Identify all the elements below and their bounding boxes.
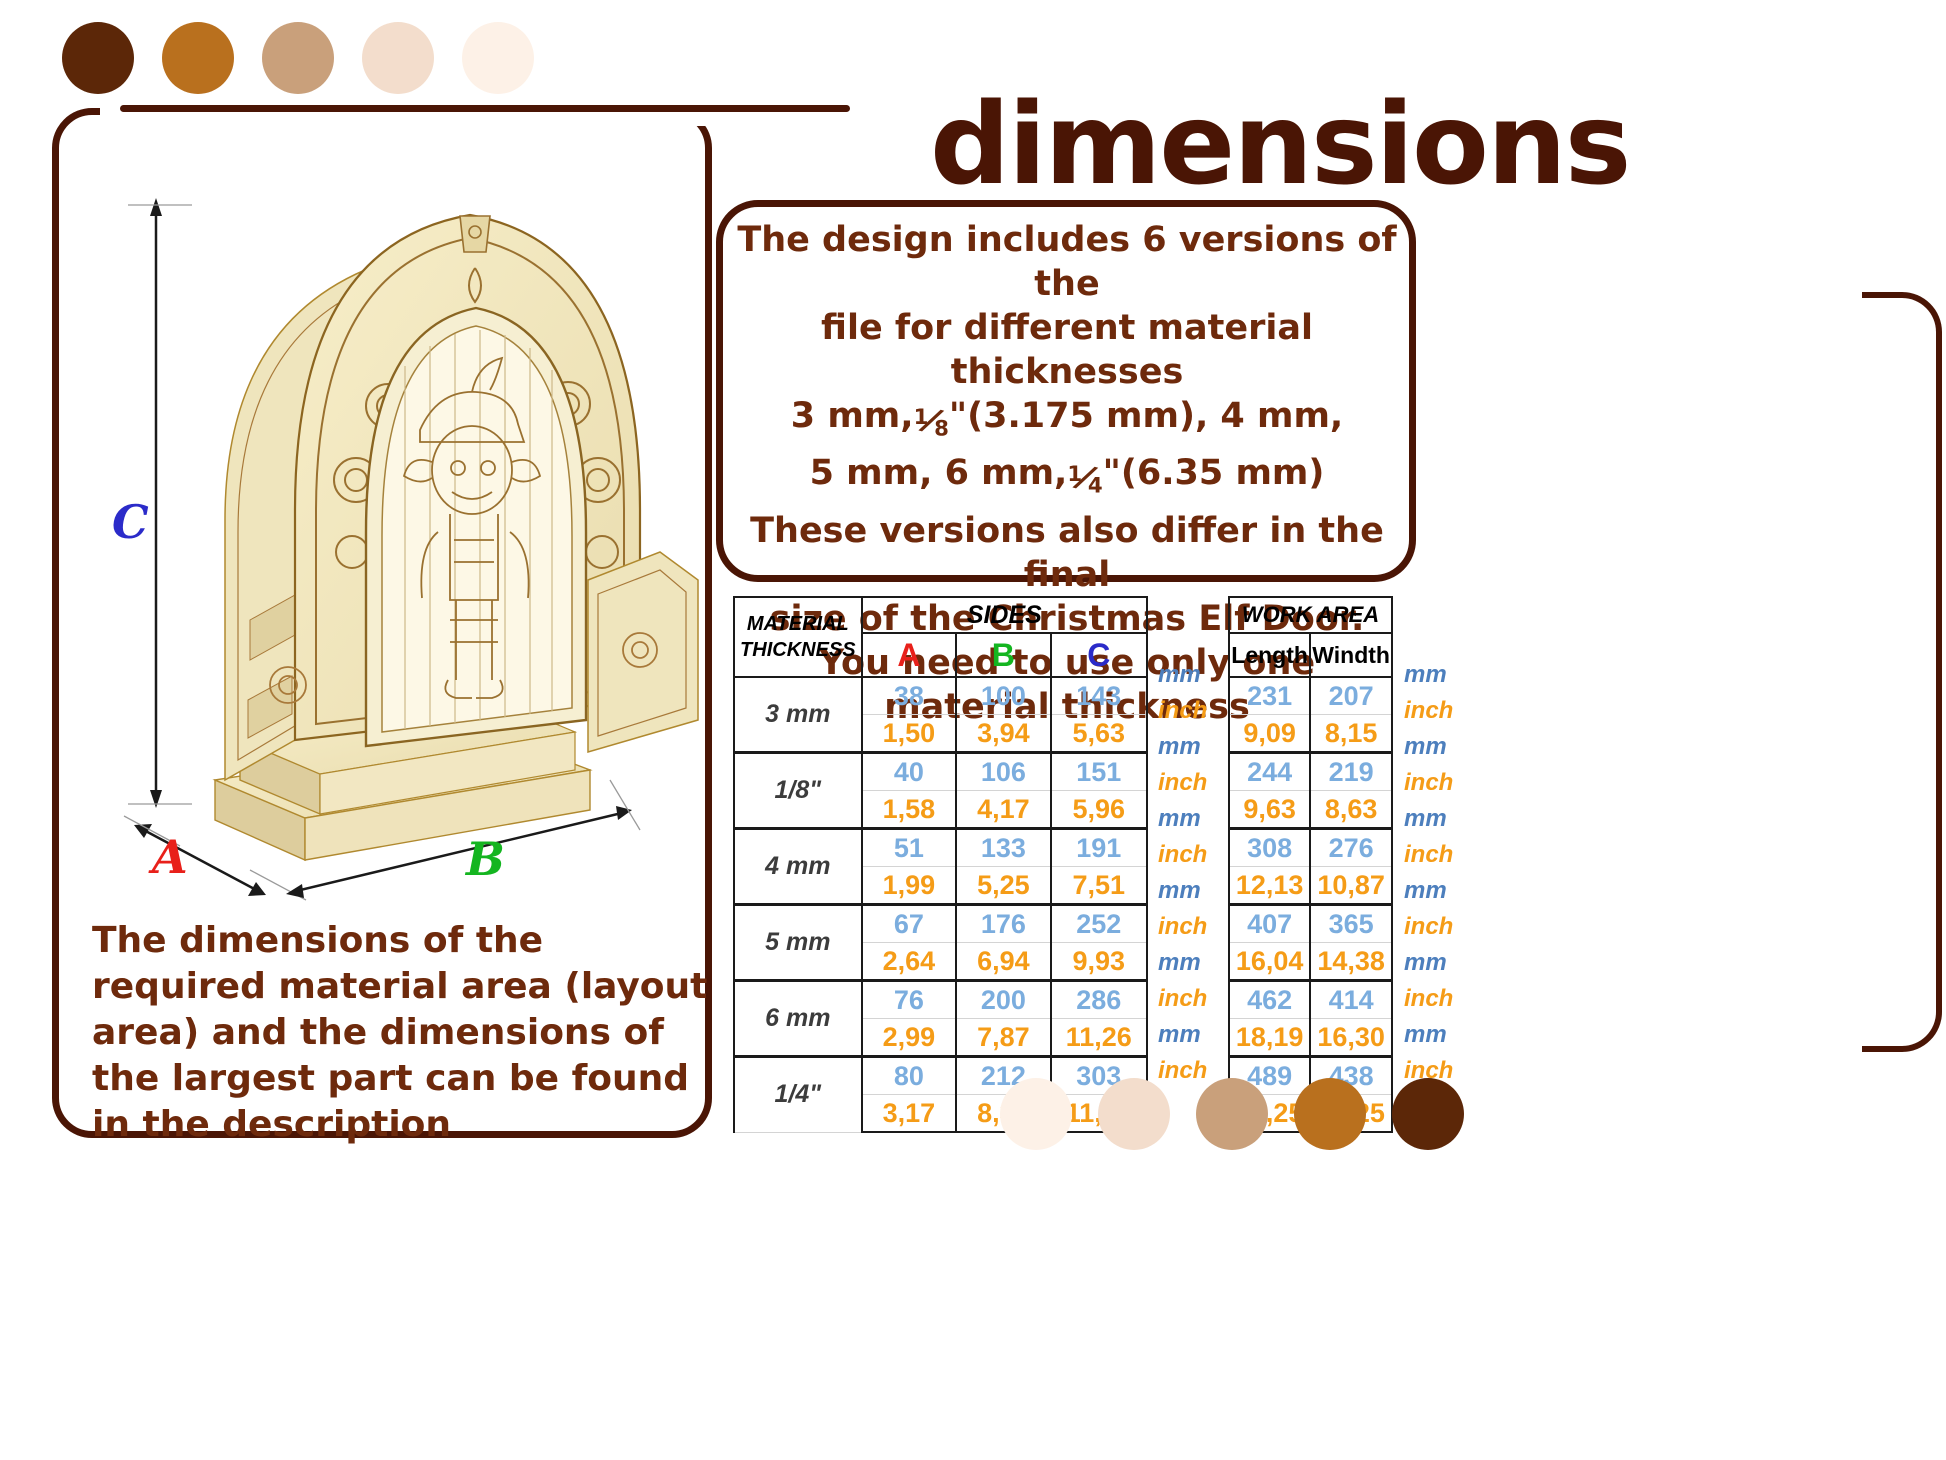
- info-line-4: 5 mm, 6 mm,1⁄4"(6.35 mm): [726, 451, 1408, 508]
- work-subheader-row: LengthWindth: [1229, 633, 1392, 677]
- cell-inch-length: 9,63: [1229, 791, 1310, 829]
- unit-label-mm: mm: [1404, 877, 1447, 905]
- table-row: 3 mm38100143: [734, 677, 1147, 715]
- unit-label-mm: mm: [1158, 1021, 1201, 1049]
- cell-mm-length: 407: [1229, 905, 1310, 943]
- cell-inch-windth: 8,63: [1310, 791, 1392, 829]
- column-header-a: A: [862, 633, 956, 677]
- table-row: 12,1310,87: [1229, 867, 1392, 905]
- cell-mm-a: 40: [862, 753, 956, 791]
- thickness-cell: 5 mm: [734, 905, 862, 981]
- color-swatch-4: [1392, 1078, 1464, 1150]
- table-row: 18,1916,30: [1229, 1019, 1392, 1057]
- unit-label-mm: mm: [1404, 1021, 1447, 1049]
- table-header-row: MATERIALTHICKNESSSIDES: [734, 597, 1147, 633]
- info-line-3-suffix: "(3.175 mm), 4 mm,: [949, 396, 1343, 436]
- watermark-frame: [1862, 292, 1942, 1052]
- table-row: 16,0414,38: [1229, 943, 1392, 981]
- cell-inch-b: 7,87: [956, 1019, 1050, 1057]
- cell-inch-length: 12,13: [1229, 867, 1310, 905]
- color-swatch-0: [1000, 1078, 1072, 1150]
- unit-label-inch: inch: [1404, 913, 1453, 941]
- color-swatch-3: [362, 22, 434, 94]
- cell-mm-a: 51: [862, 829, 956, 867]
- cell-inch-c: 9,93: [1051, 943, 1147, 981]
- unit-label-inch: inch: [1158, 1057, 1207, 1085]
- fraction-one-eighth: 1⁄8: [914, 396, 949, 452]
- unit-label-inch: inch: [1404, 697, 1453, 725]
- unit-label-inch: inch: [1158, 985, 1207, 1013]
- info-line-5: These versions also differ in the final: [726, 509, 1408, 597]
- cell-mm-windth: 219: [1310, 753, 1392, 791]
- table-row: 6 mm76200286: [734, 981, 1147, 1019]
- table-row: 231207: [1229, 677, 1392, 715]
- unit-label-inch: inch: [1158, 841, 1207, 869]
- color-swatch-0: [62, 22, 134, 94]
- info-line-2: file for different material thicknesses: [726, 306, 1408, 394]
- sides-dimensions-table: MATERIALTHICKNESSSIDESABC3 mm381001431,5…: [733, 596, 1148, 1133]
- cell-mm-c: 286: [1051, 981, 1147, 1019]
- header-sides-group: SIDES: [862, 597, 1147, 633]
- cell-mm-length: 308: [1229, 829, 1310, 867]
- cell-inch-length: 18,19: [1229, 1019, 1310, 1057]
- work-header-row: WORK AREA: [1229, 597, 1392, 633]
- cell-inch-length: 16,04: [1229, 943, 1310, 981]
- color-palette-bottom: [1000, 1078, 1464, 1150]
- info-line-4-prefix: 5 mm, 6 mm,: [810, 453, 1068, 493]
- unit-label-inch: inch: [1404, 769, 1453, 797]
- thickness-cell: 1/8": [734, 753, 862, 829]
- unit-label-inch: inch: [1158, 913, 1207, 941]
- dimension-label-c: C: [112, 495, 149, 549]
- cell-mm-a: 80: [862, 1057, 956, 1095]
- color-palette-top: [62, 22, 534, 94]
- unit-label-mm: mm: [1404, 949, 1447, 977]
- unit-label-inch: inch: [1404, 985, 1453, 1013]
- dimension-arrows: [110, 180, 730, 910]
- cell-mm-length: 231: [1229, 677, 1310, 715]
- cell-inch-windth: 16,30: [1310, 1019, 1392, 1057]
- table-row: 9,098,15: [1229, 715, 1392, 753]
- color-swatch-1: [162, 22, 234, 94]
- unit-label-mm: mm: [1404, 805, 1447, 833]
- cell-inch-a: 1,58: [862, 791, 956, 829]
- unit-label-inch: inch: [1158, 769, 1207, 797]
- cell-inch-c: 5,63: [1051, 715, 1147, 753]
- cell-mm-b: 133: [956, 829, 1050, 867]
- cell-inch-c: 7,51: [1051, 867, 1147, 905]
- frac-denominator-2: 4: [1088, 474, 1103, 499]
- column-header-windth: Windth: [1310, 633, 1392, 677]
- unit-label-inch: inch: [1158, 697, 1207, 725]
- cell-inch-a: 2,64: [862, 943, 956, 981]
- info-line-1: The design includes 6 versions of the: [726, 218, 1408, 306]
- unit-label-mm: mm: [1158, 877, 1201, 905]
- unit-label-mm: mm: [1158, 661, 1201, 689]
- thickness-cell: 3 mm: [734, 677, 862, 753]
- cell-inch-a: 2,99: [862, 1019, 956, 1057]
- cell-mm-a: 38: [862, 677, 956, 715]
- thickness-cell: 6 mm: [734, 981, 862, 1057]
- cell-mm-windth: 365: [1310, 905, 1392, 943]
- poster-canvas: dimensions: [0, 0, 1946, 1460]
- page-title: dimensions: [930, 80, 1629, 210]
- cell-mm-c: 151: [1051, 753, 1147, 791]
- cell-mm-windth: 276: [1310, 829, 1392, 867]
- column-header-b: B: [956, 633, 1050, 677]
- table-row: 308276: [1229, 829, 1392, 867]
- cell-mm-windth: 414: [1310, 981, 1392, 1019]
- cell-inch-b: 3,94: [956, 715, 1050, 753]
- table-row: 407365: [1229, 905, 1392, 943]
- cell-mm-b: 106: [956, 753, 1050, 791]
- cell-inch-length: 9,09: [1229, 715, 1310, 753]
- unit-label-mm: mm: [1404, 733, 1447, 761]
- cell-mm-c: 143: [1051, 677, 1147, 715]
- cell-inch-c: 11,26: [1051, 1019, 1147, 1057]
- frac-denominator: 8: [934, 416, 949, 441]
- unit-label-mm: mm: [1158, 949, 1201, 977]
- cell-mm-c: 252: [1051, 905, 1147, 943]
- cell-inch-windth: 8,15: [1310, 715, 1392, 753]
- cell-mm-b: 100: [956, 677, 1050, 715]
- cell-mm-length: 244: [1229, 753, 1310, 791]
- header-work-area-group: WORK AREA: [1229, 597, 1392, 633]
- cell-inch-b: 5,25: [956, 867, 1050, 905]
- cell-mm-b: 200: [956, 981, 1050, 1019]
- column-header-c: C: [1051, 633, 1147, 677]
- info-line-3-prefix: 3 mm,: [791, 396, 914, 436]
- cell-mm-c: 191: [1051, 829, 1147, 867]
- dimension-label-a: A: [152, 830, 188, 884]
- color-swatch-1: [1098, 1078, 1170, 1150]
- info-line-4-suffix: "(6.35 mm): [1103, 453, 1325, 493]
- cell-inch-a: 3,17: [862, 1095, 956, 1133]
- work-area-table: WORK AREALengthWindth2312079,098,1524421…: [1228, 596, 1393, 1133]
- unit-label-inch: inch: [1404, 841, 1453, 869]
- work-table-body: WORK AREALengthWindth2312079,098,1524421…: [1229, 597, 1392, 1132]
- cell-mm-b: 176: [956, 905, 1050, 943]
- cell-mm-length: 462: [1229, 981, 1310, 1019]
- color-swatch-2: [262, 22, 334, 94]
- unit-label-inch: inch: [1404, 1057, 1453, 1085]
- frame-top-rule: [120, 105, 850, 112]
- thickness-cell: 4 mm: [734, 829, 862, 905]
- sides-table-body: MATERIALTHICKNESSSIDESABC3 mm381001431,5…: [734, 597, 1147, 1132]
- table-row: 5 mm67176252: [734, 905, 1147, 943]
- cell-inch-b: 6,94: [956, 943, 1050, 981]
- cell-mm-windth: 207: [1310, 677, 1392, 715]
- cell-inch-a: 1,50: [862, 715, 956, 753]
- header-material-thickness: MATERIALTHICKNESS: [734, 597, 862, 677]
- cell-inch-a: 1,99: [862, 867, 956, 905]
- table-row: 462414: [1229, 981, 1392, 1019]
- cell-mm-a: 76: [862, 981, 956, 1019]
- cell-mm-a: 67: [862, 905, 956, 943]
- info-line-3: 3 mm,1⁄8"(3.175 mm), 4 mm,: [726, 394, 1408, 451]
- color-swatch-3: [1294, 1078, 1366, 1150]
- cell-inch-b: 4,17: [956, 791, 1050, 829]
- cell-inch-windth: 10,87: [1310, 867, 1392, 905]
- thickness-cell: 1/4": [734, 1057, 862, 1133]
- table-row: 1/8"40106151: [734, 753, 1147, 791]
- table-row: 4 mm51133191: [734, 829, 1147, 867]
- dimension-label-b: B: [466, 832, 505, 886]
- unit-label-mm: mm: [1158, 733, 1201, 761]
- description-note: The dimensions of the required material …: [92, 918, 722, 1148]
- table-row: 244219: [1229, 753, 1392, 791]
- fraction-one-quarter: 1⁄4: [1067, 453, 1102, 509]
- color-swatch-4: [462, 22, 534, 94]
- cell-inch-windth: 14,38: [1310, 943, 1392, 981]
- cell-inch-c: 5,96: [1051, 791, 1147, 829]
- column-header-length: Length: [1229, 633, 1310, 677]
- unit-label-mm: mm: [1158, 805, 1201, 833]
- table-row: 9,638,63: [1229, 791, 1392, 829]
- color-swatch-2: [1196, 1078, 1268, 1150]
- unit-label-mm: mm: [1404, 661, 1447, 689]
